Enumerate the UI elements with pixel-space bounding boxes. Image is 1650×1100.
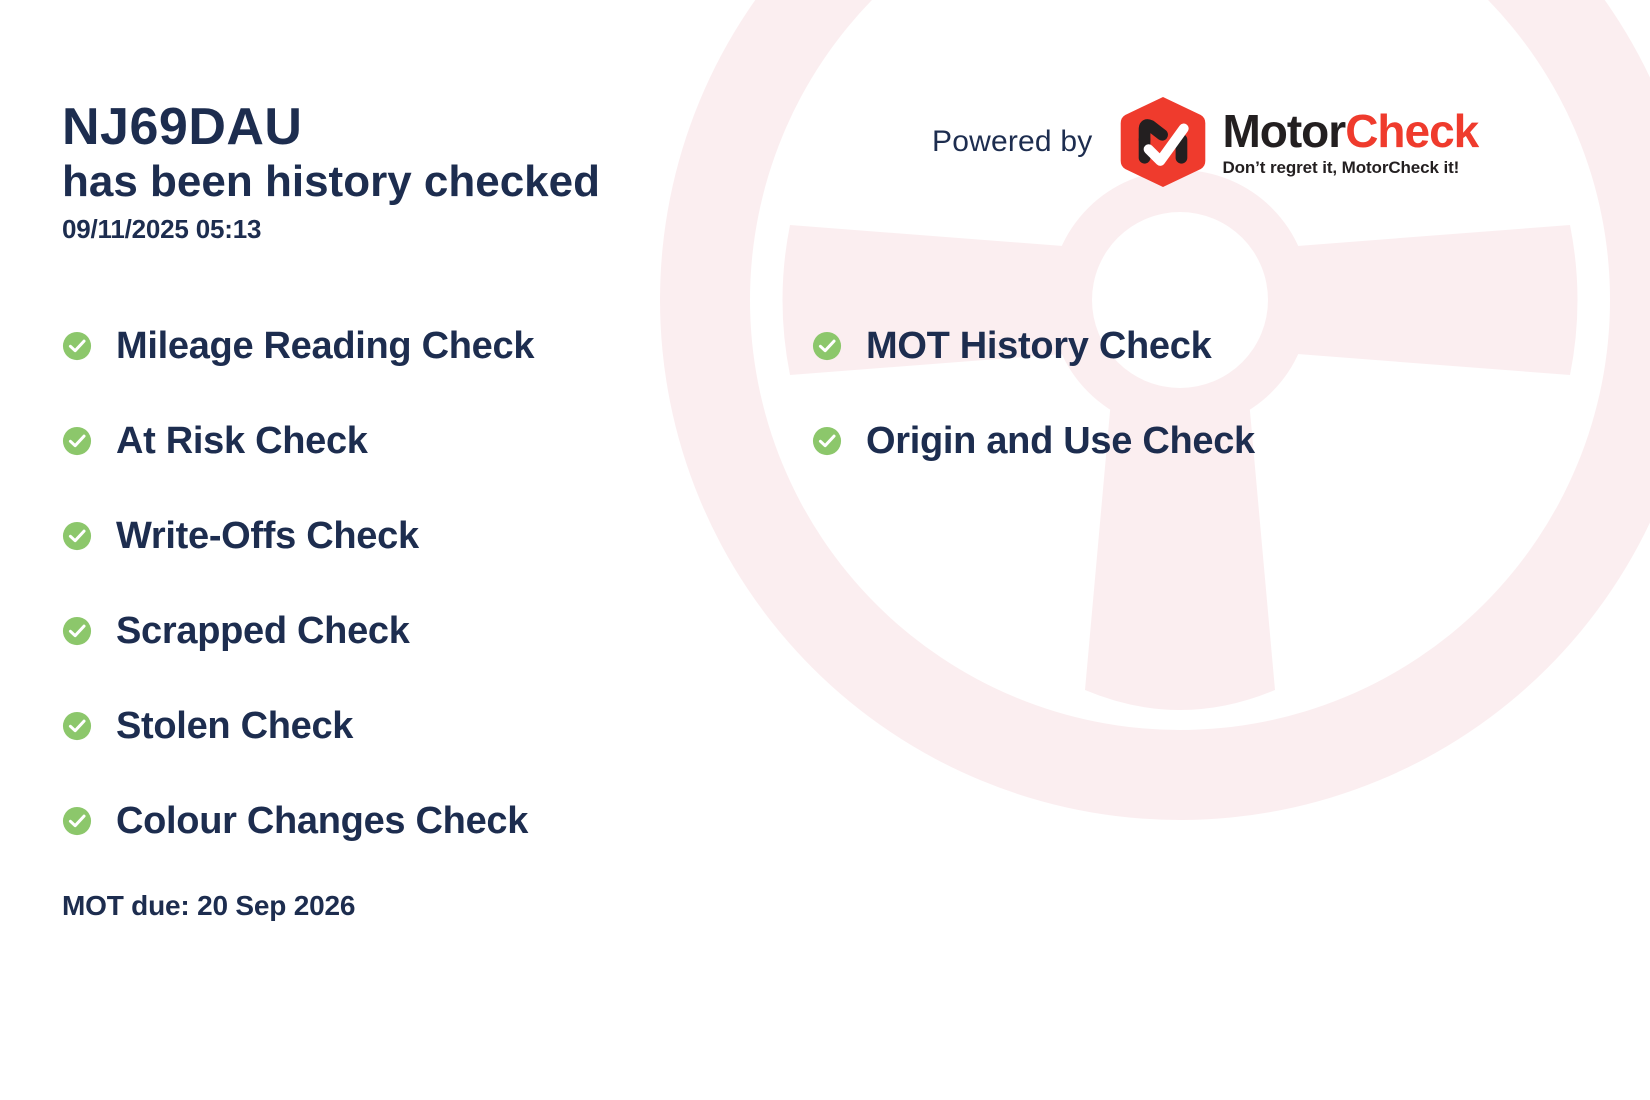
check-item-origin-and-use: Origin and Use Check [812, 413, 1532, 469]
check-item-colour-changes: Colour Changes Check [62, 793, 762, 849]
check-label: MOT History Check [866, 325, 1211, 368]
check-timestamp: 09/11/2025 05:13 [62, 214, 782, 245]
check-label: Stolen Check [116, 705, 353, 748]
motorcheck-wordmark: MotorCheck [1222, 108, 1478, 155]
green-check-circle-icon [62, 331, 92, 361]
check-label: Colour Changes Check [116, 800, 528, 843]
green-check-circle-icon [812, 331, 842, 361]
motorcheck-hexagon-icon [1118, 95, 1208, 189]
brand-tagline: Don’t regret it, MotorCheck it! [1222, 159, 1478, 176]
check-label: Write-Offs Check [116, 515, 419, 558]
page-title: has been history checked [62, 157, 782, 206]
check-item-write-offs: Write-Offs Check [62, 508, 762, 564]
check-item-stolen: Stolen Check [62, 698, 762, 754]
checks-column-left: Mileage Reading Check At Risk Check Writ… [62, 318, 762, 888]
check-label: Mileage Reading Check [116, 325, 534, 368]
check-label: Origin and Use Check [866, 420, 1255, 463]
powered-by-label: Powered by [932, 125, 1092, 159]
motorcheck-logo[interactable]: MotorCheck Don’t regret it, MotorCheck i… [1118, 95, 1478, 189]
check-item-mot-history: MOT History Check [812, 318, 1532, 374]
green-check-circle-icon [812, 426, 842, 456]
check-item-mileage-reading: Mileage Reading Check [62, 318, 762, 374]
checks-column-right: MOT History Check Origin and Use Check [812, 318, 1532, 508]
vehicle-registration: NJ69DAU [62, 100, 782, 155]
green-check-circle-icon [62, 806, 92, 836]
check-item-at-risk: At Risk Check [62, 413, 762, 469]
mot-due-text: MOT due: 20 Sep 2026 [62, 890, 355, 922]
green-check-circle-icon [62, 521, 92, 551]
wordmark-motor: Motor [1222, 105, 1345, 157]
motorcheck-wordmark-group: MotorCheck Don’t regret it, MotorCheck i… [1222, 108, 1478, 176]
green-check-circle-icon [62, 426, 92, 456]
wordmark-check: Check [1345, 105, 1478, 157]
check-label: Scrapped Check [116, 610, 410, 653]
check-label: At Risk Check [116, 420, 368, 463]
check-item-scrapped: Scrapped Check [62, 603, 762, 659]
green-check-circle-icon [62, 711, 92, 741]
powered-by-lockup: Powered by MotorCheck Don’t regret it, M… [932, 95, 1478, 189]
report-header: NJ69DAU has been history checked 09/11/2… [62, 100, 782, 245]
green-check-circle-icon [62, 616, 92, 646]
report-card: NJ69DAU has been history checked 09/11/2… [0, 0, 1650, 1100]
